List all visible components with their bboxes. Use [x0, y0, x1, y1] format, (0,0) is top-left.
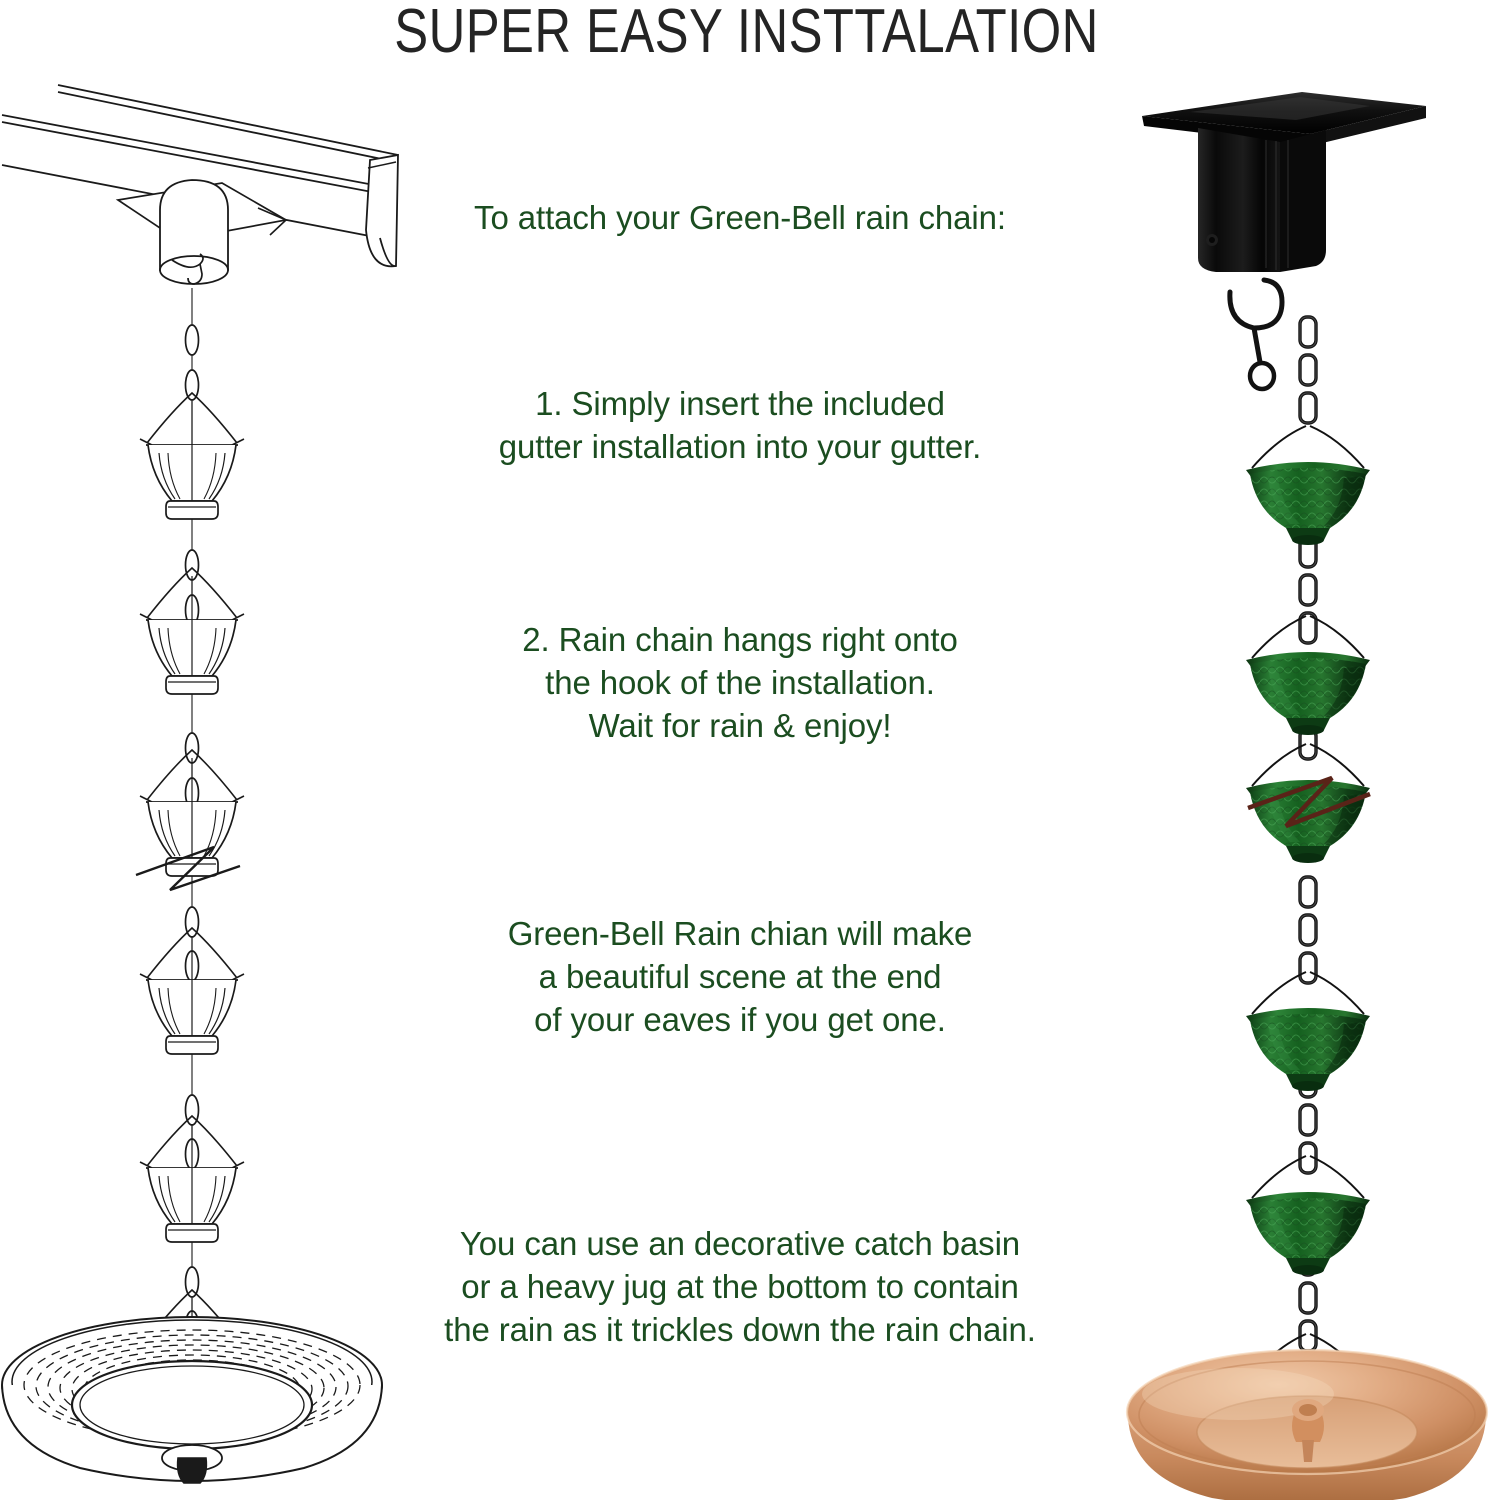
black-gutter-installer	[1142, 92, 1426, 272]
chain-and-cups-line-drawing	[136, 288, 244, 1457]
left-line-drawing-diagram	[0, 60, 430, 1500]
instruction-intro: To attach your Green-Bell rain chain:	[380, 196, 1100, 239]
instruction-promo: Green-Bell Rain chian will make a beauti…	[380, 912, 1100, 1041]
s-hook	[1230, 280, 1282, 362]
hook-end-loop	[1250, 363, 1274, 389]
catch-basin-line-drawing	[2, 1317, 382, 1483]
right-product-photo	[1120, 70, 1493, 1500]
instruction-catch-basin: You can use an decorative catch basin or…	[350, 1222, 1130, 1351]
infographic-page: SUPER EASY INSTTALATION To attach your G…	[0, 0, 1493, 1500]
chain-and-bell-cups	[1246, 317, 1370, 1475]
instruction-step-2: 2. Rain chain hangs right onto the hook …	[380, 618, 1100, 747]
instruction-step-1: 1. Simply insert the included gutter ins…	[380, 382, 1100, 468]
copper-catch-basin	[1127, 1350, 1487, 1500]
green-bell-cups	[1246, 426, 1370, 1453]
gutter-installer-cylinder	[160, 180, 228, 284]
